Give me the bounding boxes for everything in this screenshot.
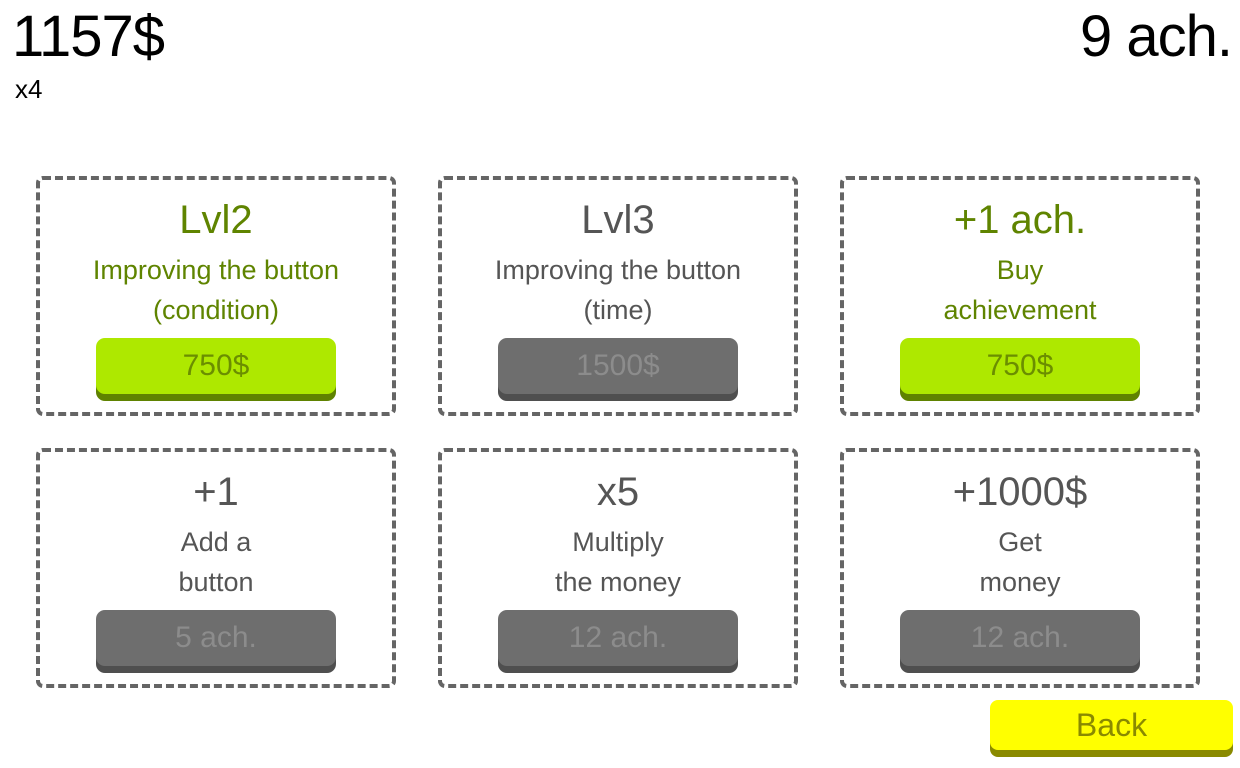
upgrade-description-line-1: Multiply	[555, 522, 681, 562]
upgrade-description-line-2: (condition)	[93, 290, 339, 330]
upgrade-description: Get money	[979, 522, 1060, 602]
upgrade-card-get-money[interactable]: +1000$ Get money 12 ach.	[840, 448, 1200, 688]
status-bar: 1157$ x4 9 ach.	[0, 0, 1240, 115]
upgrade-card-add-button[interactable]: +1 Add a button 5 ach.	[36, 448, 396, 688]
upgrade-description: Multiply the money	[555, 522, 681, 602]
upgrade-buy-button[interactable]: 750$	[900, 338, 1140, 394]
money-amount: 1157$	[12, 8, 164, 66]
money-multiplier: x4	[15, 74, 164, 104]
upgrade-description: Buy achievement	[943, 250, 1096, 330]
upgrade-description-line-1: Get	[979, 522, 1060, 562]
upgrade-description: Improving the button (time)	[495, 250, 741, 330]
upgrade-effect: +1	[193, 468, 239, 516]
achievement-counter: 9 ach.	[1080, 8, 1232, 66]
upgrade-buy-button-disabled: 1500$	[498, 338, 738, 394]
upgrade-effect: Lvl3	[581, 196, 654, 244]
upgrade-effect: Lvl2	[179, 196, 252, 244]
upgrade-card-lvl3[interactable]: Lvl3 Improving the button (time) 1500$	[438, 176, 798, 416]
upgrade-effect: +1 ach.	[954, 196, 1086, 244]
upgrade-description-line-2: the money	[555, 562, 681, 602]
upgrade-buy-button[interactable]: 750$	[96, 338, 336, 394]
upgrade-buy-button-disabled: 12 ach.	[900, 610, 1140, 666]
upgrade-effect: x5	[597, 468, 639, 516]
upgrade-card-lvl2[interactable]: Lvl2 Improving the button (condition) 75…	[36, 176, 396, 416]
upgrade-description-line-2: button	[178, 562, 253, 602]
upgrade-description-line-2: achievement	[943, 290, 1096, 330]
back-button[interactable]: Back	[990, 700, 1233, 750]
upgrade-buy-button-disabled: 5 ach.	[96, 610, 336, 666]
upgrade-description: Improving the button (condition)	[93, 250, 339, 330]
upgrade-description-line-1: Buy	[943, 250, 1096, 290]
upgrade-description-line-2: money	[979, 562, 1060, 602]
money-display: 1157$ x4	[12, 8, 164, 104]
upgrade-grid: Lvl2 Improving the button (condition) 75…	[36, 176, 1200, 688]
upgrade-buy-button-disabled: 12 ach.	[498, 610, 738, 666]
upgrade-description-line-1: Add a	[178, 522, 253, 562]
upgrade-description: Add a button	[178, 522, 253, 602]
upgrade-description-line-1: Improving the button	[93, 250, 339, 290]
upgrade-card-multiply-money[interactable]: x5 Multiply the money 12 ach.	[438, 448, 798, 688]
upgrade-description-line-1: Improving the button	[495, 250, 741, 290]
upgrade-effect: +1000$	[953, 468, 1088, 516]
upgrade-card-buy-achievement[interactable]: +1 ach. Buy achievement 750$	[840, 176, 1200, 416]
upgrade-description-line-2: (time)	[495, 290, 741, 330]
